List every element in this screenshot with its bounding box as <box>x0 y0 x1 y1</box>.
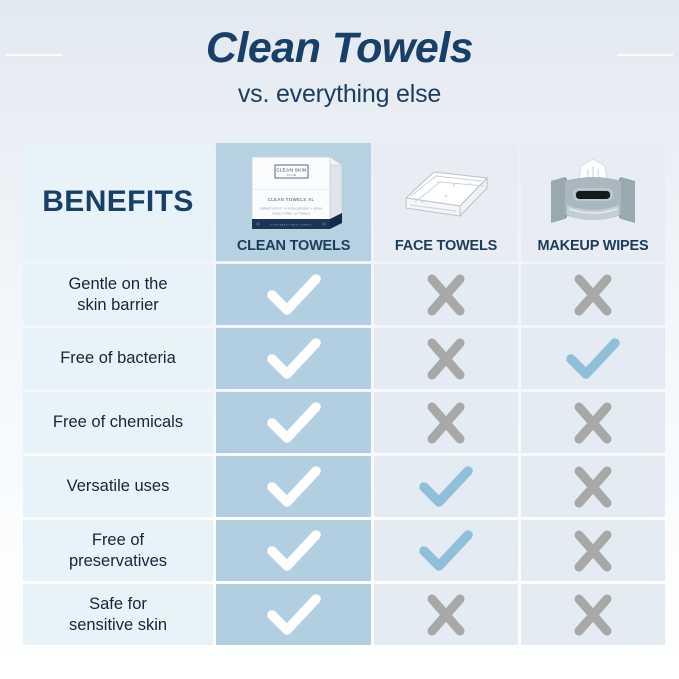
benefit-label: Free of preservatives <box>59 530 177 570</box>
cross-icon <box>419 401 473 445</box>
cell-makeup_wipes-row-6 <box>521 584 665 645</box>
cell-makeup_wipes-row-5 <box>521 520 665 581</box>
benefit-row-label-cell: Free of bacteria <box>23 328 213 389</box>
cross-icon <box>566 593 620 637</box>
cell-makeup_wipes-row-4 <box>521 456 665 517</box>
page-title: Clean Towels <box>0 26 679 71</box>
cell-clean_towels-row-4 <box>216 456 371 517</box>
product-box-icon: CLEAN SKIN CLUB CLEAN TOWELS XL DERMATOL… <box>242 151 346 235</box>
cross-icon <box>566 529 620 573</box>
svg-text:CRUELTY-FREE • 50 TOWELS: CRUELTY-FREE • 50 TOWELS <box>271 213 309 215</box>
benefit-row-label-cell: Gentle on the skin barrier <box>23 264 213 325</box>
check-icon <box>267 529 321 573</box>
cell-clean_towels-row-1 <box>216 264 371 325</box>
benefit-label: Gentle on the skin barrier <box>58 274 177 314</box>
cell-clean_towels-row-5 <box>216 520 371 581</box>
column-header-clean_towels[interactable]: CLEAN SKIN CLUB CLEAN TOWELS XL DERMATOL… <box>216 143 371 261</box>
check-icon <box>419 465 473 509</box>
cell-clean_towels-row-3 <box>216 392 371 453</box>
benefit-row-label-cell: Safe for sensitive skin <box>23 584 213 645</box>
column-header-face_towels[interactable]: FACE TOWELS <box>374 143 518 261</box>
folded-towel-icon-wrap <box>374 143 518 238</box>
column-header-label-face_towels: FACE TOWELS <box>395 238 497 254</box>
benefit-label: Versatile uses <box>57 476 180 496</box>
svg-text:CLUB: CLUB <box>286 173 296 177</box>
page-header: Clean Towels vs. everything else <box>0 26 679 109</box>
svg-text:DERMATOLOGIST • HYPOALLERGENIC: DERMATOLOGIST • HYPOALLERGENIC • VEGAN <box>259 207 322 210</box>
cell-face_towels-row-3 <box>374 392 518 453</box>
cell-clean_towels-row-2 <box>216 328 371 389</box>
check-icon <box>566 337 620 381</box>
cell-makeup_wipes-row-3 <box>521 392 665 453</box>
cell-makeup_wipes-row-2 <box>521 328 665 389</box>
column-header-label-makeup_wipes: MAKEUP WIPES <box>538 238 649 254</box>
check-icon <box>267 593 321 637</box>
check-icon <box>267 465 321 509</box>
benefits-header-cell: BENEFITS <box>23 143 213 261</box>
svg-text:DISPOSABLE FACE TOWELS: DISPOSABLE FACE TOWELS <box>270 223 311 226</box>
benefit-label: Free of bacteria <box>50 348 186 368</box>
benefit-row-label-cell: Free of preservatives <box>23 520 213 581</box>
check-icon <box>267 337 321 381</box>
check-icon <box>419 529 473 573</box>
cell-face_towels-row-5 <box>374 520 518 581</box>
cell-makeup_wipes-row-1 <box>521 264 665 325</box>
svg-text:CLEAN SKIN: CLEAN SKIN <box>276 167 306 172</box>
check-icon <box>267 273 321 317</box>
cell-face_towels-row-4 <box>374 456 518 517</box>
cross-icon <box>419 593 473 637</box>
benefit-row-label-cell: Versatile uses <box>23 456 213 517</box>
product-box-icon-wrap: CLEAN SKIN CLUB CLEAN TOWELS XL DERMATOL… <box>216 143 371 238</box>
cell-face_towels-row-6 <box>374 584 518 645</box>
column-header-makeup_wipes[interactable]: MAKEUP WIPES <box>521 143 665 261</box>
cross-icon <box>566 273 620 317</box>
cross-icon <box>419 337 473 381</box>
column-header-label-clean_towels: CLEAN TOWELS <box>237 238 350 254</box>
cross-icon <box>566 401 620 445</box>
cross-icon <box>566 465 620 509</box>
benefit-row-label-cell: Free of chemicals <box>23 392 213 453</box>
benefit-label: Safe for sensitive skin <box>59 594 177 634</box>
comparison-table: BENEFITS CLEAN SKIN CLUB CLEAN TOWELS XL… <box>23 143 656 635</box>
benefit-label: Free of chemicals <box>43 412 193 432</box>
folded-towel-icon <box>394 154 498 232</box>
check-icon <box>267 401 321 445</box>
svg-text:CLEAN TOWELS XL: CLEAN TOWELS XL <box>267 197 314 202</box>
cross-icon <box>419 273 473 317</box>
cell-clean_towels-row-6 <box>216 584 371 645</box>
benefits-header-label: BENEFITS <box>42 185 194 219</box>
wipes-pack-icon <box>543 153 643 233</box>
cell-face_towels-row-1 <box>374 264 518 325</box>
page-subtitle: vs. everything else <box>0 80 679 109</box>
wipes-pack-icon-wrap <box>521 143 665 238</box>
cell-face_towels-row-2 <box>374 328 518 389</box>
